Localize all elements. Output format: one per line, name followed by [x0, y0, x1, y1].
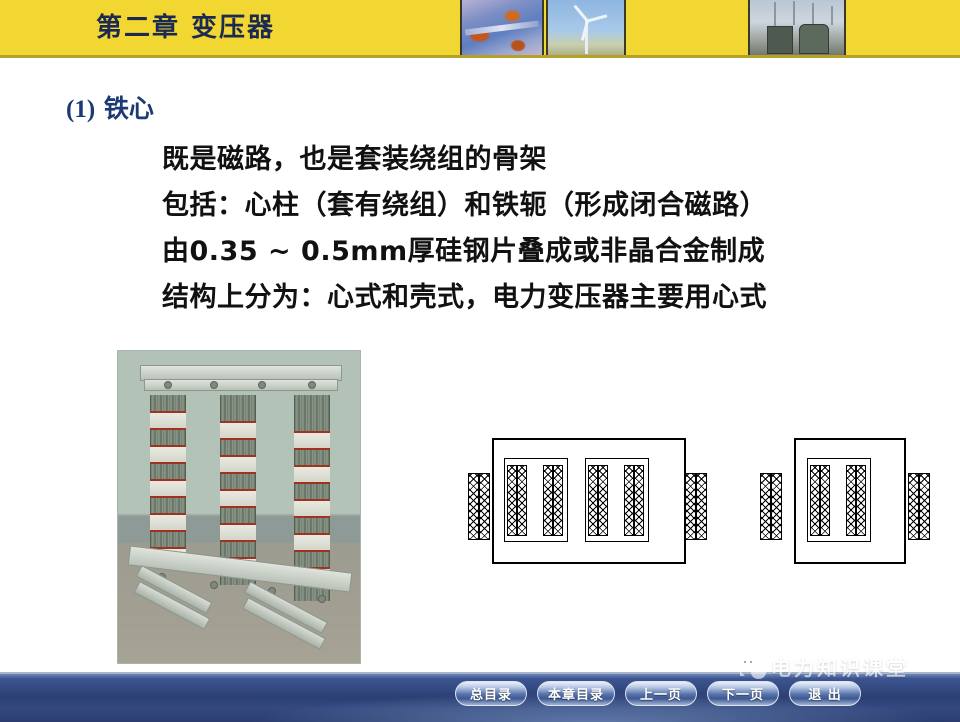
dry-type-transformer-photo	[117, 350, 361, 664]
photo-bolt	[210, 581, 218, 589]
substation-pole-shape	[793, 1, 795, 25]
left-outer-winding	[479, 473, 490, 540]
window-winding	[856, 465, 866, 536]
photo-coil-band	[294, 465, 330, 484]
section-title-text: 铁心	[104, 94, 154, 123]
substation-image-fill	[750, 0, 844, 57]
photo-coil-band	[150, 513, 186, 532]
body-line: 由0.35 ~ 0.5mm厚硅钢片叠成或非晶合金制成	[162, 229, 922, 275]
window-winding	[588, 465, 598, 536]
body-line: 包括：心柱（套有绕组）和铁轭（形成闭合磁路）	[162, 183, 922, 229]
photo-coil-band	[294, 533, 330, 552]
left-outer-winding	[760, 473, 771, 540]
exit-button[interactable]: 退 出	[789, 681, 861, 706]
photo-coil-band	[150, 445, 186, 464]
wind-blade-shape	[587, 14, 607, 22]
wechat-icon-dot	[744, 661, 746, 663]
section-title-number: (1)	[66, 96, 95, 123]
photo-coil-band	[294, 499, 330, 518]
left-outer-winding	[771, 473, 782, 540]
window-winding	[553, 465, 563, 536]
photo-coil-band	[220, 523, 256, 542]
window-winding	[820, 465, 830, 536]
window-winding	[810, 465, 820, 536]
photo-coil-band	[220, 489, 256, 508]
main-contents-button[interactable]: 总目录	[455, 681, 527, 706]
window-winding	[634, 465, 644, 536]
window-winding	[507, 465, 517, 536]
body-line: 既是磁路，也是套装绕组的骨架	[162, 137, 922, 183]
window-winding	[517, 465, 527, 536]
chapter-contents-button-label: 本章目录	[548, 684, 604, 703]
exit-button-label: 退 出	[808, 684, 842, 703]
wechat-icon	[738, 655, 766, 679]
next-page-button[interactable]: 下一页	[707, 681, 779, 706]
machine-image-fill	[462, 0, 542, 57]
substation-tank-shape	[767, 26, 793, 54]
wind-turbine-photo	[546, 0, 626, 57]
electrical-machine-photo	[460, 0, 544, 57]
section-title: (1) 铁心	[66, 89, 154, 125]
watermark-text: 电力知识课堂	[771, 652, 909, 681]
photo-bolt	[164, 381, 172, 389]
wind-image-fill	[548, 0, 624, 57]
right-outer-winding	[696, 473, 707, 540]
substation-pole-shape	[831, 6, 833, 25]
chapter-title: 第二章 变压器	[96, 7, 275, 44]
body-line: 结构上分为：心式和壳式，电力变压器主要用心式	[162, 275, 922, 321]
substation-transformer-photo	[748, 0, 846, 57]
navigation-buttons: 总目录 本章目录 上一页 下一页 退 出	[455, 681, 861, 706]
substation-tank-shape	[799, 24, 829, 55]
photo-coil	[150, 395, 186, 567]
core-type-core-diagram	[760, 428, 940, 578]
shell-type-core-diagram	[468, 428, 718, 578]
left-outer-winding	[468, 473, 479, 540]
substation-pole-shape	[812, 3, 814, 25]
window-winding	[543, 465, 553, 536]
photo-coil-band	[150, 479, 186, 498]
photo-coil-band	[150, 411, 186, 430]
photo-coil-band	[220, 421, 256, 440]
right-outer-winding	[919, 473, 930, 540]
next-page-button-label: 下一页	[722, 684, 764, 703]
photo-coil-band	[294, 431, 330, 450]
watermark: 电力知识课堂	[738, 652, 909, 681]
right-outer-winding	[685, 473, 696, 540]
substation-pole-shape	[774, 2, 776, 27]
wechat-icon-dot	[750, 661, 752, 663]
wechat-icon-small-bubble	[751, 666, 766, 679]
window-winding	[598, 465, 608, 536]
slide-body: 既是磁路，也是套装绕组的骨架 包括：心柱（套有绕组）和铁轭（形成闭合磁路） 由0…	[162, 137, 922, 321]
window-winding	[846, 465, 856, 536]
main-contents-button-label: 总目录	[470, 684, 512, 703]
photo-bolt	[318, 595, 326, 603]
header-underline	[0, 55, 960, 58]
photo-bolt	[258, 381, 266, 389]
photo-bolt	[308, 381, 316, 389]
right-outer-winding	[908, 473, 919, 540]
photo-bolt	[210, 381, 218, 389]
slide-header: 第二章 变压器	[0, 0, 960, 57]
previous-page-button[interactable]: 上一页	[625, 681, 697, 706]
chapter-contents-button[interactable]: 本章目录	[537, 681, 615, 706]
photo-coil-band	[220, 455, 256, 474]
previous-page-button-label: 上一页	[640, 684, 682, 703]
window-winding	[624, 465, 634, 536]
